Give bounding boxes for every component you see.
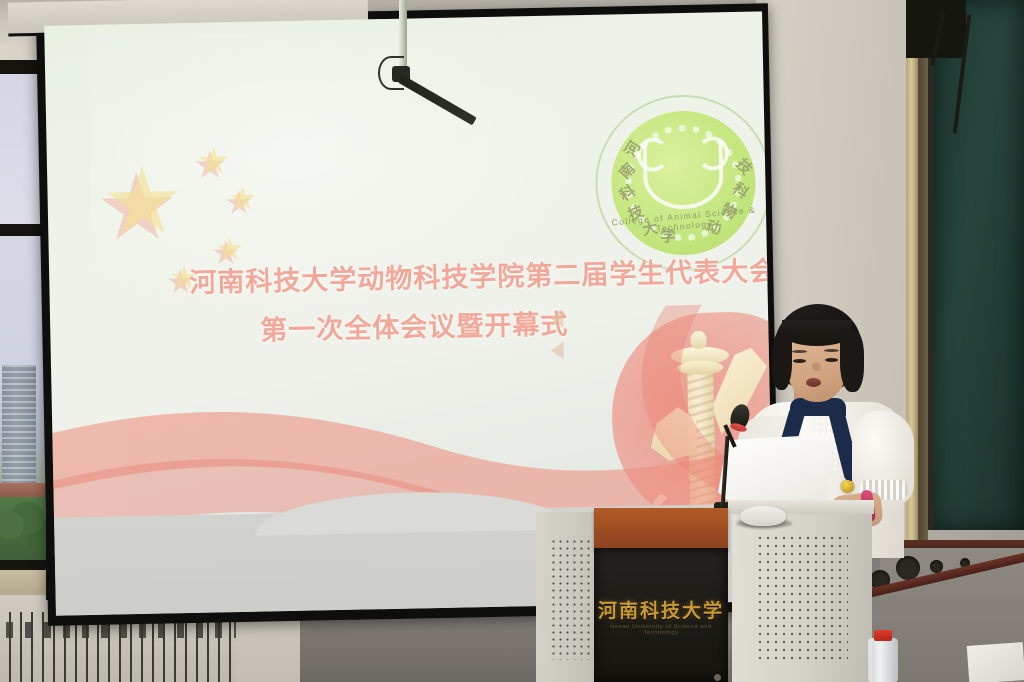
computer-mouse[interactable] <box>740 506 786 526</box>
paper-stack <box>967 642 1024 682</box>
plaque-chinese-text: 河南科技大学 <box>594 596 728 623</box>
blackboard-inner-trim <box>918 0 928 560</box>
hair-side-left <box>772 332 792 390</box>
college-logo: 河 南 科 技 大 学 动 物 科 技 College of Animal Sc… <box>594 93 773 272</box>
logo-chinese-arc-text: 河 南 科 技 大 学 动 物 科 技 <box>594 89 773 268</box>
panel-hole <box>896 556 920 580</box>
triangle-marker-icon <box>550 309 563 327</box>
water-bottle[interactable] <box>868 638 898 682</box>
lectern-speaker-right <box>732 506 872 682</box>
hair-side-right <box>840 330 864 392</box>
plaque-english-text: Henan University of Science and Technolo… <box>594 624 728 636</box>
triangle-marker-icon <box>551 341 564 359</box>
lectern-plaque: 河南科技大学 Henan University of Science and T… <box>594 548 728 682</box>
trees <box>0 497 46 565</box>
blackboard: 第 <box>928 0 1024 530</box>
lapel-badge <box>841 480 854 493</box>
apartment-tower <box>2 365 36 485</box>
eyebrow-left <box>792 350 807 353</box>
eye-right <box>825 358 838 362</box>
speaker-grille-left <box>550 538 592 660</box>
window-lower-pane <box>0 235 46 565</box>
speaker-grille-right <box>756 534 848 664</box>
nose <box>812 362 821 371</box>
bottle-cap <box>874 630 892 641</box>
mouth <box>806 378 821 387</box>
eye-left <box>793 359 806 363</box>
plaque-bolt <box>714 674 721 681</box>
eyebrow-right <box>824 349 839 352</box>
photo-scene: 第 <box>0 0 1024 682</box>
slide-title-line2: 第一次全体会议暨开幕式 <box>260 302 569 347</box>
lectern-wood-trim <box>594 508 728 550</box>
lectern: 河南科技大学 Henan University of Science and T… <box>536 500 872 682</box>
